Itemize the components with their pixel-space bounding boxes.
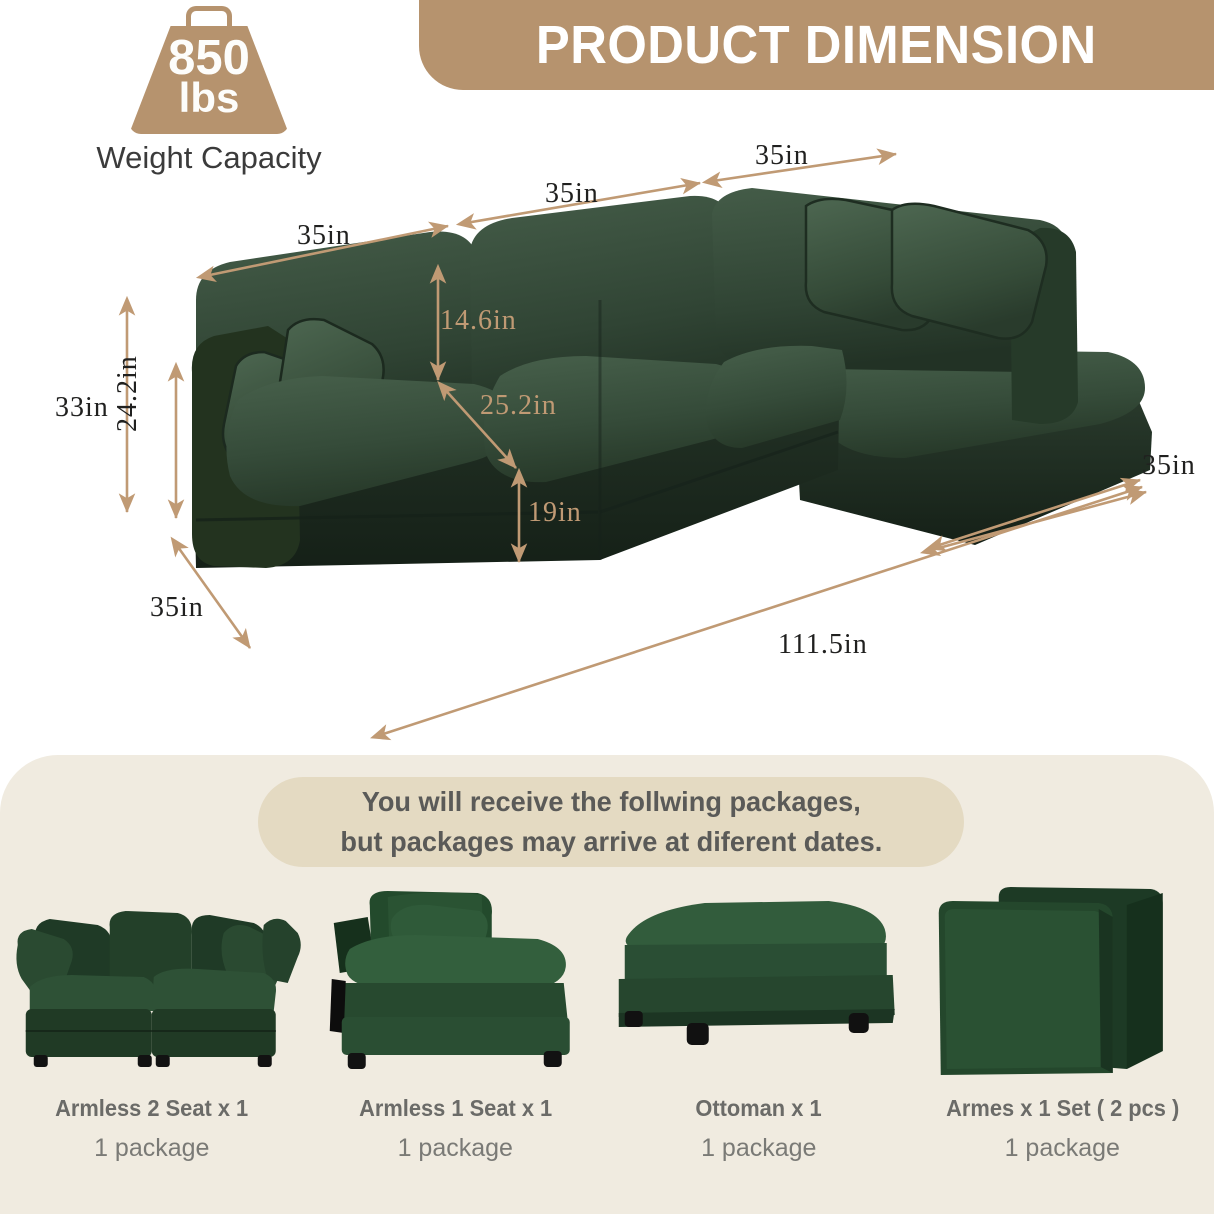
dim-label-seat-depth: 25.2in bbox=[480, 390, 557, 422]
package-subtitle: 1 package bbox=[398, 1134, 513, 1163]
dim-label-back-mid-width: 35in bbox=[545, 178, 599, 210]
package-title: Ottoman x 1 bbox=[696, 1095, 822, 1122]
armless-1-seat-image bbox=[304, 883, 608, 1083]
dim-label-side-depth-right: 35in bbox=[1142, 450, 1196, 482]
package-title: Armless 1 Seat x 1 bbox=[359, 1095, 552, 1122]
package-title: Armes x 1 Set ( 2 pcs ) bbox=[946, 1095, 1179, 1122]
dim-label-side-depth-left: 35in bbox=[150, 592, 204, 624]
packages-notice: You will receive the follwing packages, … bbox=[258, 777, 964, 867]
sofa-dimension-illustration bbox=[0, 0, 1214, 760]
packages-list: Armless 2 Seat x 1 1 package bbox=[0, 883, 1214, 1183]
armless-2-seat-image bbox=[0, 883, 304, 1083]
dim-label-overall-length: 111.5in bbox=[778, 629, 868, 661]
ottoman-image bbox=[607, 883, 911, 1083]
packages-panel: You will receive the follwing packages, … bbox=[0, 755, 1214, 1214]
package-item-arms-set: Armes x 1 Set ( 2 pcs ) 1 package bbox=[911, 883, 1214, 1183]
package-item-armless-2-seat: Armless 2 Seat x 1 1 package bbox=[0, 883, 304, 1183]
dim-label-seat-height: 19in bbox=[528, 497, 582, 529]
dim-label-overall-height: 33in bbox=[55, 392, 109, 424]
dim-label-arm-height: 24.2in bbox=[112, 355, 144, 432]
package-subtitle: 1 package bbox=[701, 1134, 816, 1163]
dim-label-back-left-width: 35in bbox=[297, 220, 351, 252]
package-subtitle: 1 package bbox=[1005, 1134, 1120, 1163]
package-title: Armless 2 Seat x 1 bbox=[55, 1095, 248, 1122]
package-subtitle: 1 package bbox=[94, 1134, 209, 1163]
packages-notice-line-1: You will receive the follwing packages, bbox=[361, 782, 860, 822]
infographic-canvas: PRODUCT DIMENSION 850 lbs Weight Capacit… bbox=[0, 0, 1214, 1214]
arms-set-image bbox=[911, 883, 1214, 1083]
dim-label-back-right-width: 35in bbox=[755, 140, 809, 172]
dim-label-backrest-height: 14.6in bbox=[440, 305, 517, 337]
packages-notice-line-2: but packages may arrive at diferent date… bbox=[340, 822, 882, 862]
package-item-ottoman: Ottoman x 1 1 package bbox=[607, 883, 911, 1183]
package-item-armless-1-seat: Armless 1 Seat x 1 1 package bbox=[304, 883, 608, 1183]
